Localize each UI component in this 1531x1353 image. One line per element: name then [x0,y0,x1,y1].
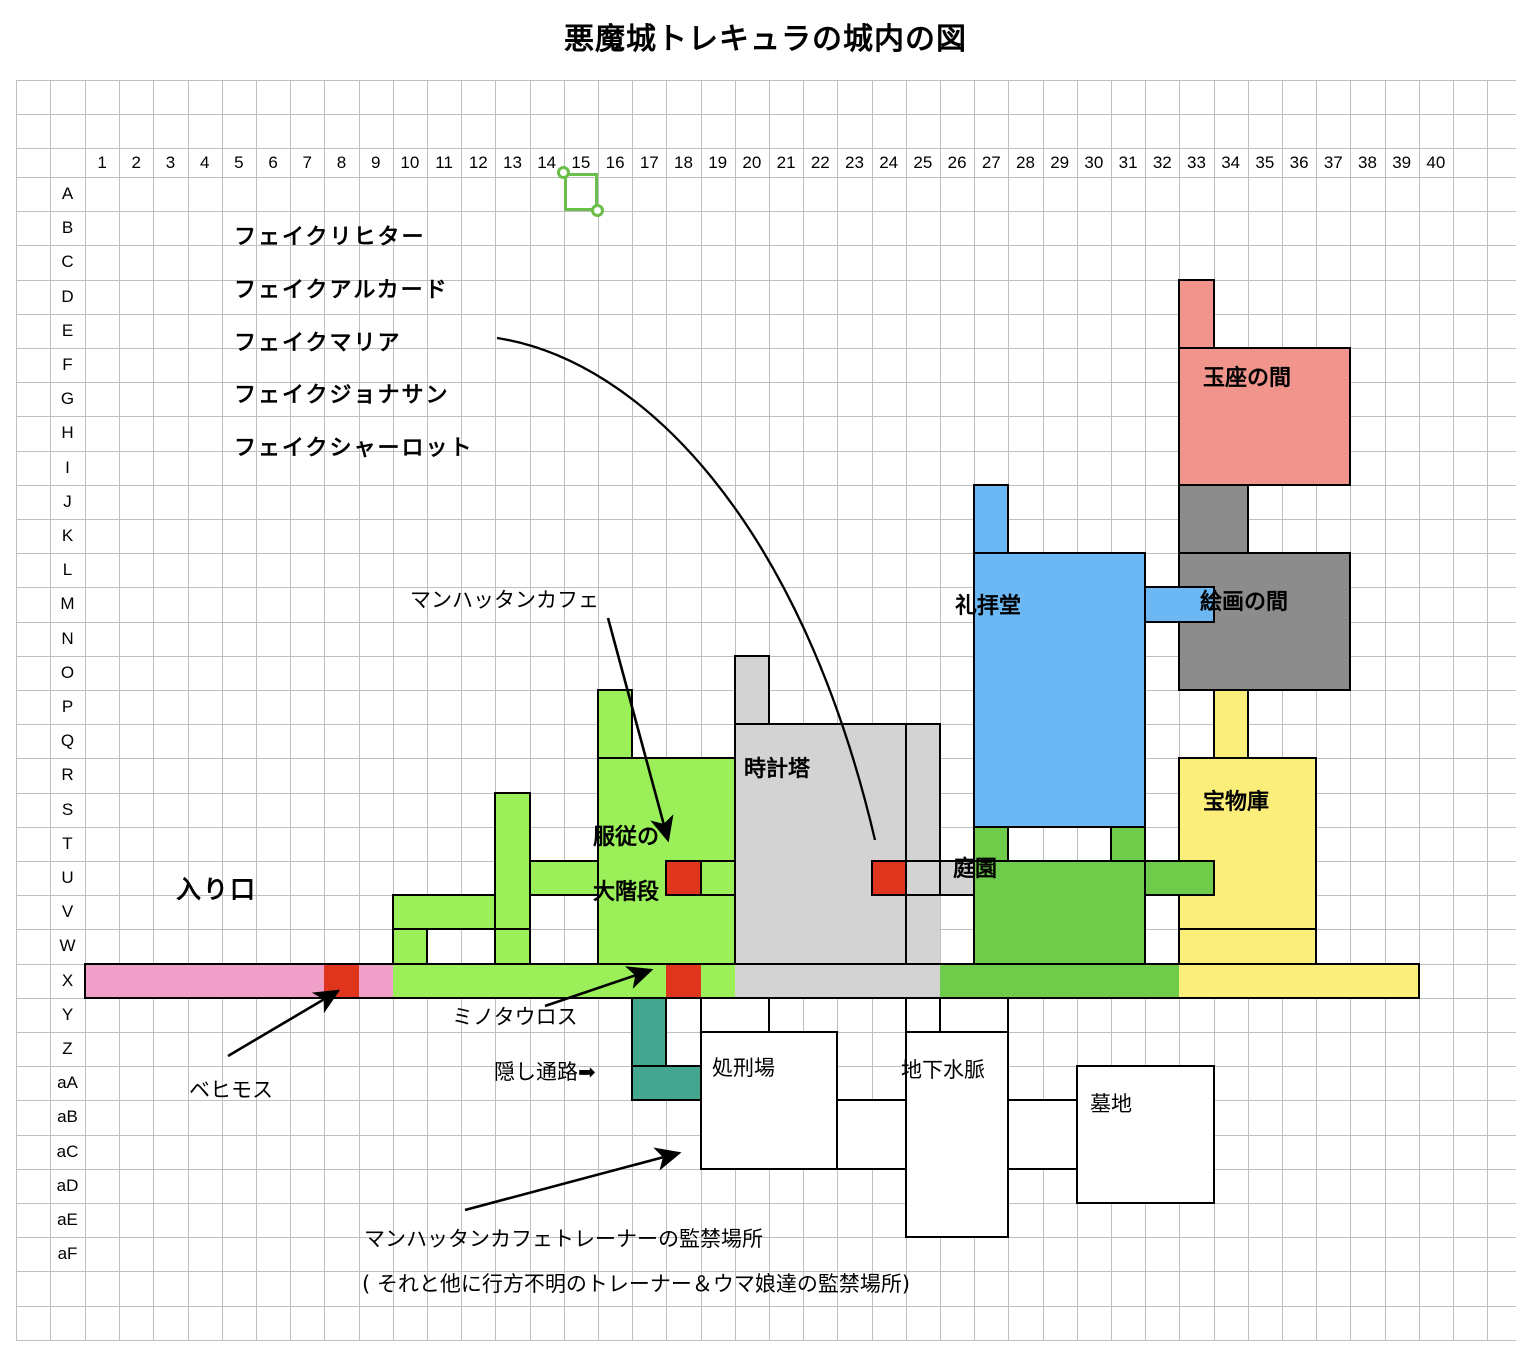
fake-list-item-2: フェイクアルカード [234,278,449,303]
painting-corridor [1179,485,1247,553]
execution-ground-annex [836,1099,906,1169]
fake-list-item-1: フェイクリヒター [234,225,426,250]
label-garden: 庭園 [953,857,997,882]
staircase-red-door [666,861,700,895]
corridor-gray [735,964,940,998]
staircase-arm-10w [393,929,427,963]
waterway-notch-right [939,997,1009,1033]
hidden-passage-arrow-icon: ➡ [578,1060,596,1084]
execution-notch [700,997,770,1033]
hidden-passage-text: 隠し通路 [494,1060,578,1084]
fake-list-item-3: フェイクマリア [234,331,402,356]
label-staircase-line1: 服従の [593,825,659,850]
label-staircase-line2: 大階段 [593,880,659,905]
label-underground-waterway: 地下水脈 [901,1058,985,1082]
chapel-corridor [974,485,1008,553]
staircase-arm-1415 [530,861,598,895]
clocktower-corridor [735,656,769,724]
label-cemetery: 墓地 [1090,1092,1132,1116]
corridor-garden [940,964,1179,998]
treasury-corridor [1214,690,1248,758]
staircase-u-ext [701,861,735,895]
minotaur-door [666,964,700,998]
garden-top-right [1111,827,1145,861]
garden-link [1145,861,1213,895]
corridor-treasury [1179,964,1418,998]
annotation-hidden-passage: 隠し通路➡ [494,1060,596,1084]
clocktower-red-door [872,861,906,895]
label-throne-room: 玉座の間 [1203,366,1291,391]
label-painting-room: 絵画の間 [1200,590,1288,615]
throne-corridor [1179,280,1213,348]
selection-handle-top-left[interactable] [557,166,570,179]
execution-ground-room [700,1031,839,1170]
castle-map-cells [0,0,1531,1353]
label-execution-ground: 処刑場 [712,1056,775,1080]
behemoth-door [324,964,358,998]
castle-map-page: 悪魔城トレキュラの城内の図 12345678910111213141516171… [0,0,1531,1353]
caption-line-1: マンハッタンカフェトレーナーの監禁場所 [364,1227,763,1251]
staircase-stub-16 [598,690,632,758]
caption-line-2: ( それと他に行方不明のトレーナー＆ウマ娘達の監禁場所) [362,1272,910,1296]
garden-top-left [974,827,1008,861]
fake-list-item-5: フェイクシャーロット [234,436,474,461]
waterway-notch-left [905,997,941,1033]
annotation-behemoth: ベヒモス [189,1078,273,1102]
annotation-manhattan-cafe: マンハッタンカフェ [410,588,599,612]
hidden-passage-horizontal [666,1066,700,1100]
staircase-arm-13 [495,793,529,930]
label-chapel: 礼拝堂 [955,594,1021,619]
clocktower-u-tail [906,861,940,895]
staircase-arm-101112 [393,895,496,929]
label-entrance: 入り口 [176,876,257,905]
hidden-passage-vertical [632,998,666,1101]
staircase-arm-13w [495,929,529,963]
label-treasury: 宝物庫 [1203,790,1269,815]
cemetery-room [1076,1065,1215,1204]
label-clock-tower: 時計塔 [744,757,810,782]
garden-fill [974,861,1145,964]
annotation-minotaur: ミノタウロス [452,1005,578,1029]
painting-room-fill [1179,553,1350,690]
waterway-cemetery-link [1007,1099,1077,1169]
fake-list-item-4: フェイクジョナサン [234,383,450,408]
